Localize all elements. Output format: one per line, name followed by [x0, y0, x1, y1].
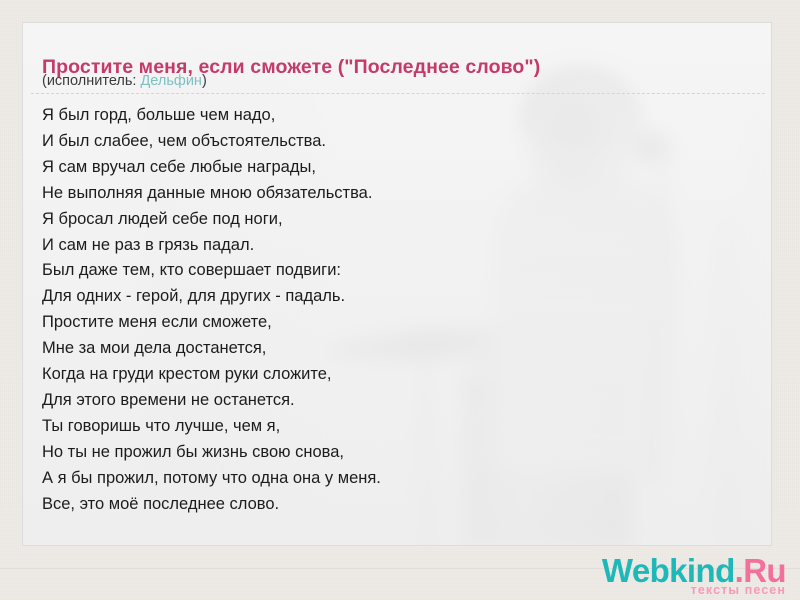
lyrics-line: Я бросал людей себе под ноги, [42, 207, 742, 233]
lyrics-line: Был даже тем, кто совершает подвиги: [42, 258, 742, 284]
title-divider [31, 93, 765, 94]
lyrics-text: Я был горд, больше чем надо,И был слабее… [42, 103, 742, 518]
lyrics-line: Для этого времени не останется. [42, 388, 742, 414]
lyrics-line: Но ты не прожил бы жизнь свою снова, [42, 440, 742, 466]
lyrics-line: А я бы прожил, потому что одна она у мен… [42, 466, 742, 492]
artist-link[interactable]: Дельфин [140, 73, 201, 89]
logo-wordmark: Webkind.Ru [602, 554, 786, 587]
lyrics-line: Все, это моё последнее слово. [42, 492, 742, 518]
lyrics-line: И сам не раз в грязь падал. [42, 233, 742, 259]
lyrics-line: И был слабее, чем объстоятельства. [42, 129, 742, 155]
site-logo[interactable]: Webkind.Ru тексты песен [602, 554, 786, 597]
artist-line: (исполнитель: Дельфин) [42, 73, 207, 89]
lyrics-line: Я сам вручал себе любые награды, [42, 155, 742, 181]
artist-label-prefix: (исполнитель: [42, 73, 140, 89]
lyrics-card: Простите меня, если сможете ("Последнее … [22, 22, 772, 546]
lyrics-line: Мне за мои дела достанется, [42, 336, 742, 362]
artist-label-suffix: ) [202, 73, 207, 89]
lyrics-line: Я был горд, больше чем надо, [42, 103, 742, 129]
lyrics-line: Простите меня если сможете, [42, 310, 742, 336]
lyrics-line: Когда на груди крестом руки сложите, [42, 362, 742, 388]
lyrics-line: Ты говоришь что лучше, чем я, [42, 414, 742, 440]
lyrics-line: Не выполняя данные мною обязательства. [42, 181, 742, 207]
lyrics-line: Для одних - герой, для других - падаль. [42, 284, 742, 310]
